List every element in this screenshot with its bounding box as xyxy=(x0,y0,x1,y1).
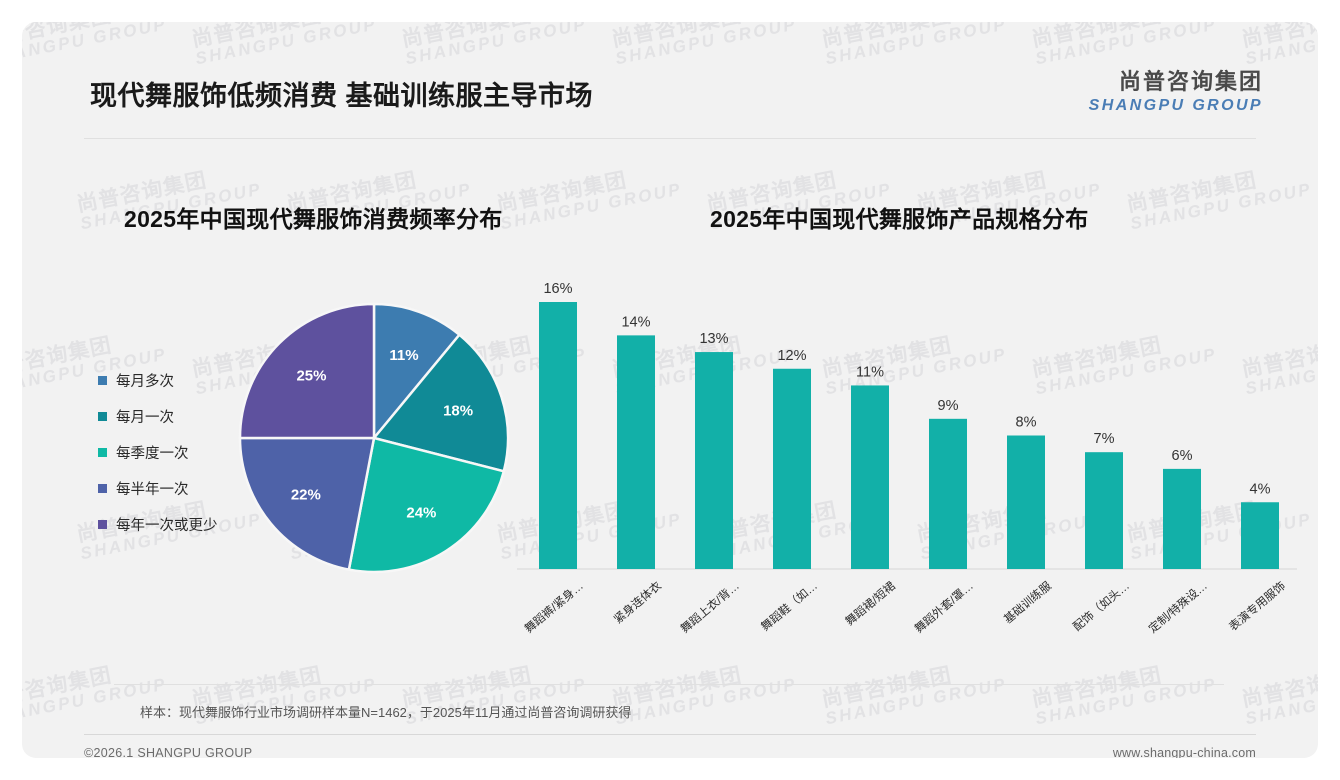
pie-chart-svg: 11%18%24%22%25% xyxy=(227,288,517,588)
brand-logo: 尚普咨询集团 SHANGPU GROUP xyxy=(1089,64,1263,115)
header-divider xyxy=(84,138,1256,139)
pie-legend-label: 每半年一次 xyxy=(116,478,189,499)
pie-slice-value: 22% xyxy=(291,486,321,503)
bar-chart-panel: 16%舞蹈裤/紧身…14%紧身连体衣13%舞蹈上衣/背…12%舞蹈鞋（如…11%… xyxy=(509,272,1299,672)
footnote-divider xyxy=(114,684,1224,685)
bar-category-label: 舞蹈裤/紧身… xyxy=(522,579,586,636)
bar-value-label: 16% xyxy=(543,281,572,297)
bar-rect[interactable] xyxy=(539,302,577,569)
watermark-text: 尚普咨询集团SHANGPU GROUP xyxy=(495,160,684,233)
pie-legend: 每月多次每月一次每季度一次每半年一次每年一次或更少 xyxy=(98,362,218,542)
bar-chart-svg: 16%舞蹈裤/紧身…14%紧身连体衣13%舞蹈上衣/背…12%舞蹈鞋（如…11%… xyxy=(509,272,1299,672)
bar-category-label: 舞蹈裙/短裙 xyxy=(842,578,898,628)
pie-legend-label: 每月一次 xyxy=(116,406,174,427)
pie-legend-label: 每月多次 xyxy=(116,370,174,391)
pie-slice-value: 24% xyxy=(406,505,436,522)
copyright-text: ©2026.1 SHANGPU GROUP xyxy=(84,746,252,758)
bar-rect[interactable] xyxy=(1085,452,1123,569)
bar-category-label: 舞蹈鞋（如… xyxy=(758,579,820,634)
bar-chart-title: 2025年中国现代舞服饰产品规格分布 xyxy=(710,200,1089,234)
slide-canvas: 尚普咨询集团SHANGPU GROUP尚普咨询集团SHANGPU GROUP尚普… xyxy=(22,22,1318,758)
bar-value-label: 12% xyxy=(777,348,806,364)
sample-note: 样本：现代舞服饰行业市场调研样本量N=1462，于2025年11月通过尚普咨询调… xyxy=(140,702,631,721)
legend-swatch-icon xyxy=(98,484,107,493)
website-link[interactable]: www.shangpu-china.com xyxy=(1113,746,1256,758)
bar-rect[interactable] xyxy=(929,419,967,569)
pie-slice-value: 11% xyxy=(389,347,418,364)
bar-value-label: 6% xyxy=(1172,448,1193,464)
bar-category-label: 基础训练服 xyxy=(1001,578,1054,626)
bar-category-label: 配饰（如头… xyxy=(1070,579,1132,634)
legend-swatch-icon xyxy=(98,376,107,385)
bar-rect[interactable] xyxy=(773,369,811,569)
slide-header: 现代舞服饰低频消费 基础训练服主导市场 尚普咨询集团 SHANGPU GROUP xyxy=(22,22,1318,118)
pie-slice-value: 25% xyxy=(296,367,326,384)
legend-swatch-icon xyxy=(98,520,107,529)
pie-legend-item[interactable]: 每月多次 xyxy=(98,362,218,398)
pie-slice[interactable] xyxy=(240,438,374,570)
bar-rect[interactable] xyxy=(617,335,655,569)
bar-value-label: 8% xyxy=(1016,415,1037,431)
page-title: 现代舞服饰低频消费 基础训练服主导市场 xyxy=(90,74,593,113)
bar-rect[interactable] xyxy=(851,385,889,569)
pie-chart-panel: 每月多次每月一次每季度一次每半年一次每年一次或更少 11%18%24%22%25… xyxy=(82,272,512,602)
pie-chart-title: 2025年中国现代舞服饰消费频率分布 xyxy=(124,200,503,234)
legend-swatch-icon xyxy=(98,412,107,421)
pie-legend-item[interactable]: 每年一次或更少 xyxy=(98,506,218,542)
bar-category-label: 定制/特殊设… xyxy=(1146,579,1210,636)
bar-category-label: 表演专用服饰 xyxy=(1226,579,1288,634)
bar-value-label: 14% xyxy=(621,314,650,330)
bar-rect[interactable] xyxy=(695,352,733,569)
pie-legend-label: 每年一次或更少 xyxy=(116,514,218,535)
pie-legend-label: 每季度一次 xyxy=(116,442,189,463)
pie-legend-item[interactable]: 每季度一次 xyxy=(98,434,218,470)
logo-english-text: SHANGPU GROUP xyxy=(1089,97,1263,115)
pie-legend-item[interactable]: 每月一次 xyxy=(98,398,218,434)
bar-value-label: 11% xyxy=(856,364,884,380)
watermark-text: 尚普咨询集团SHANGPU GROUP xyxy=(1125,160,1314,233)
bar-category-label: 紧身连体衣 xyxy=(611,578,664,626)
logo-chinese-text: 尚普咨询集团 xyxy=(1089,64,1263,96)
pie-legend-item[interactable]: 每半年一次 xyxy=(98,470,218,506)
bar-value-label: 13% xyxy=(699,331,728,347)
bar-rect[interactable] xyxy=(1163,469,1201,569)
bar-category-label: 舞蹈上衣/背… xyxy=(678,579,742,636)
bar-category-label: 舞蹈外套/罩… xyxy=(912,579,976,635)
legend-swatch-icon xyxy=(98,448,107,457)
bar-rect[interactable] xyxy=(1241,502,1279,569)
bar-value-label: 4% xyxy=(1250,481,1271,497)
bar-value-label: 7% xyxy=(1094,431,1115,447)
footer-divider xyxy=(84,734,1256,735)
pie-slice-value: 18% xyxy=(443,403,473,420)
bar-rect[interactable] xyxy=(1007,436,1045,570)
bar-value-label: 9% xyxy=(938,398,959,414)
